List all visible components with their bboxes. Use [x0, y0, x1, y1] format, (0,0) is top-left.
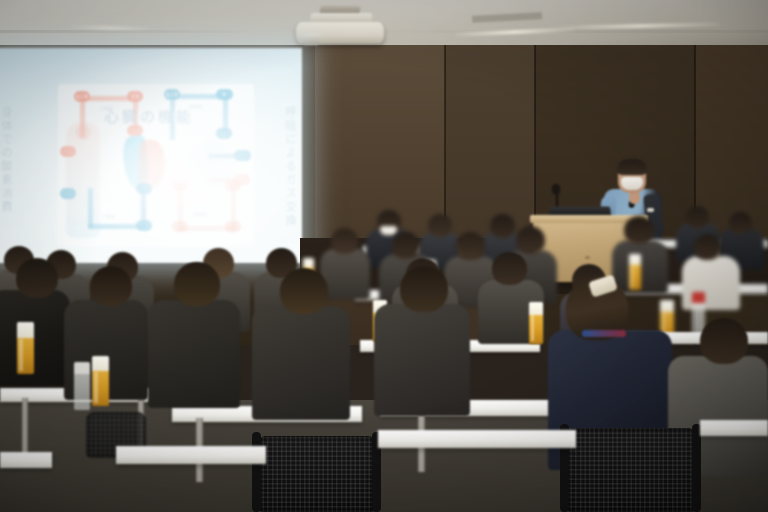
diagram-node-body-artery [60, 146, 76, 157]
audience-head [400, 266, 448, 312]
beer-glass [17, 322, 34, 374]
table-row [378, 430, 576, 448]
projection-screen: 左心室 全身 大動脈 右心室 肺 肺動脈 [0, 48, 302, 263]
chair-back [258, 436, 376, 512]
audience-head [392, 232, 420, 259]
diagram-node-pulmonary-mid [216, 128, 232, 139]
podium-microphone-head [552, 184, 560, 194]
table-row [0, 452, 52, 468]
audience-head [516, 226, 545, 254]
chair-frame [692, 424, 701, 512]
beer-glass [629, 254, 641, 290]
diagram-node-lung-in [234, 150, 251, 161]
lectern-fitting [585, 256, 590, 259]
audience-head [174, 262, 220, 306]
diagram-node-pulm-vein-left [172, 180, 188, 191]
audience-head [694, 234, 721, 260]
water-bottle [74, 362, 90, 410]
diagram-node-vena-top [136, 183, 152, 194]
table-leg [22, 398, 28, 456]
audience-person [252, 306, 350, 420]
audience-person-white-shirt [682, 256, 740, 310]
projector [292, 6, 388, 48]
diagram-node-aorta-right: 全身 [127, 91, 143, 102]
diagram-label-lower-left: 大静脈 [102, 214, 116, 220]
table-row [116, 446, 266, 464]
diagram-node-pulm-vein-bottom-right [225, 221, 241, 232]
audience-head [686, 206, 709, 228]
audience-head [428, 214, 452, 237]
audience-head [16, 258, 58, 298]
slide-right-vertical-label: 呼吸によるガス交換 [282, 106, 298, 228]
audience-head [456, 232, 485, 260]
audience-person [374, 304, 470, 416]
audience-head [624, 216, 654, 244]
lecture-hall-photo: 左心室 全身 大動脈 右心室 肺 肺動脈 [0, 0, 768, 512]
chair-back [566, 428, 696, 512]
face-mask-icon [380, 226, 397, 235]
audience-head [90, 266, 132, 306]
heart-left-side [139, 140, 165, 188]
diagram-label-lower-right: 肺静脈 [194, 212, 208, 218]
diagram-node-pulmonary-right: 肺 [216, 89, 233, 100]
audience-head [492, 252, 527, 285]
diagram-node-pulmonary-left: 右心室 [164, 89, 180, 100]
audience-head [490, 214, 515, 238]
diagram-node-vena-bottom [136, 220, 152, 231]
audience-head [700, 318, 748, 364]
presenter-hair [617, 159, 647, 175]
lanyard [582, 330, 626, 337]
audience-head [331, 228, 358, 254]
face-mask-icon [621, 177, 643, 190]
beer-glass [92, 356, 109, 406]
slide-title: 心臓の機能 [0, 106, 302, 127]
diagram-node-body-vein [60, 188, 76, 199]
audience-person [148, 300, 240, 408]
diagram-node-aorta-left: 左心室 [74, 91, 90, 102]
audience-head [280, 268, 328, 314]
chair-frame [252, 432, 261, 512]
audience-head [729, 212, 752, 234]
diagram-node-pulm-vein-bottom-left [172, 221, 188, 232]
table-row [700, 420, 768, 436]
projector-lens [302, 34, 320, 45]
presenter-wristwatch [647, 208, 654, 212]
diagram-node-pulm-vein-right [225, 180, 241, 191]
body-silhouette-icon [66, 122, 100, 238]
audience-person-quilted-jacket [0, 290, 70, 386]
beer-glass [529, 302, 543, 344]
slide-left-vertical-label: 身体での酸素消費 [0, 106, 14, 214]
